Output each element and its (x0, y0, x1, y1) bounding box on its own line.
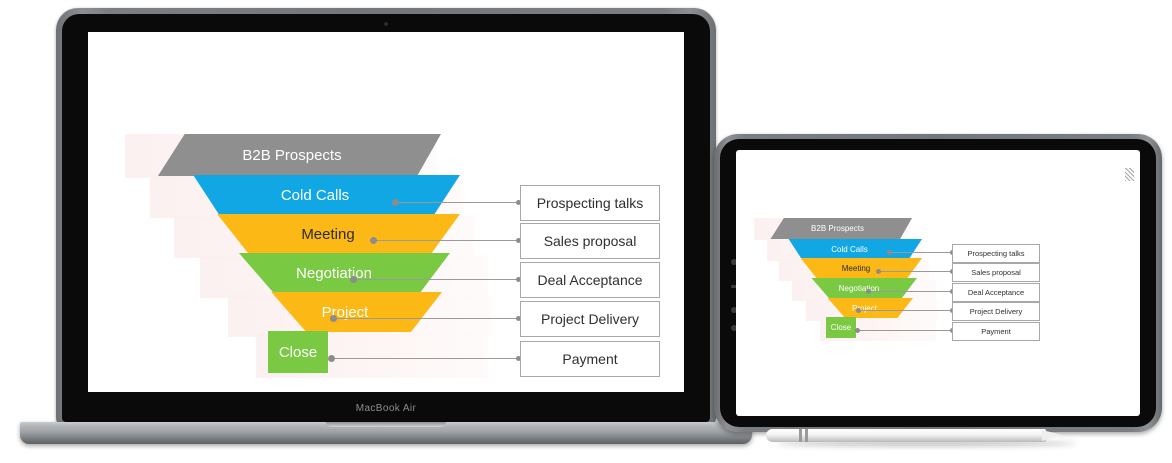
outcome-box-sales-proposal[interactable]: Sales proposal (520, 223, 660, 259)
connector-knob (350, 276, 357, 283)
pencil-body (766, 429, 1046, 442)
pencil-tip (1042, 430, 1062, 441)
connector-line (860, 310, 952, 311)
connector-line (859, 330, 952, 331)
outcome-box-deal-acceptance[interactable]: Deal Acceptance (520, 262, 660, 298)
outcome-box-payment[interactable]: Payment (520, 341, 660, 377)
outcome-label: Deal Acceptance (968, 288, 1024, 297)
laptop-hinge-notch (326, 422, 446, 427)
laptop-device: B2B Prospects Cold Calls Meeting Negotia… (56, 8, 716, 426)
tablet-screen: B2B Prospects Cold Calls Meeting Negotia… (736, 150, 1140, 416)
connector-knob (370, 237, 377, 244)
outcome-label: Deal Acceptance (537, 272, 642, 288)
outcome-label: Project Delivery (970, 307, 1023, 316)
outcome-box-payment[interactable]: Payment (952, 322, 1040, 341)
funnel-stage-label: Meeting (842, 264, 870, 273)
funnel-stage-prospects[interactable]: B2B Prospects (143, 134, 441, 176)
funnel-stage-label: Close (831, 323, 851, 332)
connector-line (891, 252, 952, 253)
connector-knob (887, 250, 892, 255)
outcome-label: Sales proposal (971, 268, 1021, 277)
connector-line (336, 318, 520, 319)
connector-line (398, 202, 520, 203)
outcome-box-project-delivery[interactable]: Project Delivery (520, 301, 660, 337)
outcome-label: Payment (981, 327, 1011, 336)
outcome-label: Prospecting talks (537, 195, 644, 211)
tablet-device: B2B Prospects Cold Calls Meeting Negotia… (714, 134, 1162, 432)
funnel-stage-close[interactable]: Close (826, 317, 856, 338)
funnel-stage-label: B2B Prospects (811, 224, 864, 233)
pencil-band (805, 429, 808, 442)
outcome-label: Sales proposal (544, 233, 637, 249)
funnel-stage-label: B2B Prospects (242, 147, 341, 164)
funnel-stage-label: Cold Calls (281, 187, 349, 204)
funnel-stage-label: Cold Calls (831, 245, 867, 254)
connector-knob (876, 269, 881, 274)
outcome-label: Prospecting talks (967, 249, 1024, 258)
connector-knob (392, 199, 399, 206)
laptop-base (20, 422, 752, 444)
webcam-icon (384, 22, 388, 26)
connector-knob (855, 328, 860, 333)
outcome-box-sales-proposal[interactable]: Sales proposal (952, 263, 1040, 282)
scene: B2B Prospects Cold Calls Meeting Negotia… (0, 0, 1172, 463)
screen-artifact (1125, 168, 1134, 181)
connector-line (880, 271, 952, 272)
outcome-label: Payment (562, 351, 617, 367)
stylus-pencil[interactable] (766, 428, 1070, 443)
funnel-stage-close[interactable]: Close (268, 331, 328, 373)
outcome-box-deal-acceptance[interactable]: Deal Acceptance (952, 283, 1040, 302)
funnel-diagram-laptop: B2B Prospects Cold Calls Meeting Negotia… (88, 32, 684, 392)
connector-line (870, 291, 952, 292)
outcome-box-prospecting-talks[interactable]: Prospecting talks (952, 244, 1040, 263)
connector-line (376, 240, 520, 241)
outcome-label: Project Delivery (541, 311, 639, 327)
connector-knob (866, 289, 871, 294)
funnel-stage-label: Meeting (301, 226, 354, 243)
funnel-diagram-tablet: B2B Prospects Cold Calls Meeting Negotia… (736, 150, 1140, 416)
connector-knob (330, 315, 337, 322)
laptop-screen: B2B Prospects Cold Calls Meeting Negotia… (88, 32, 684, 392)
outcome-box-prospecting-talks[interactable]: Prospecting talks (520, 185, 660, 221)
funnel-stage-prospects[interactable]: B2B Prospects (763, 218, 912, 239)
outcome-box-project-delivery[interactable]: Project Delivery (952, 302, 1040, 321)
funnel-stage-label: Close (279, 344, 317, 361)
pencil-band (799, 429, 802, 442)
connector-knob (328, 355, 335, 362)
laptop-brand-label: MacBook Air (56, 403, 716, 414)
connector-knob (856, 308, 861, 313)
connector-line (356, 279, 520, 280)
connector-line (334, 358, 520, 359)
